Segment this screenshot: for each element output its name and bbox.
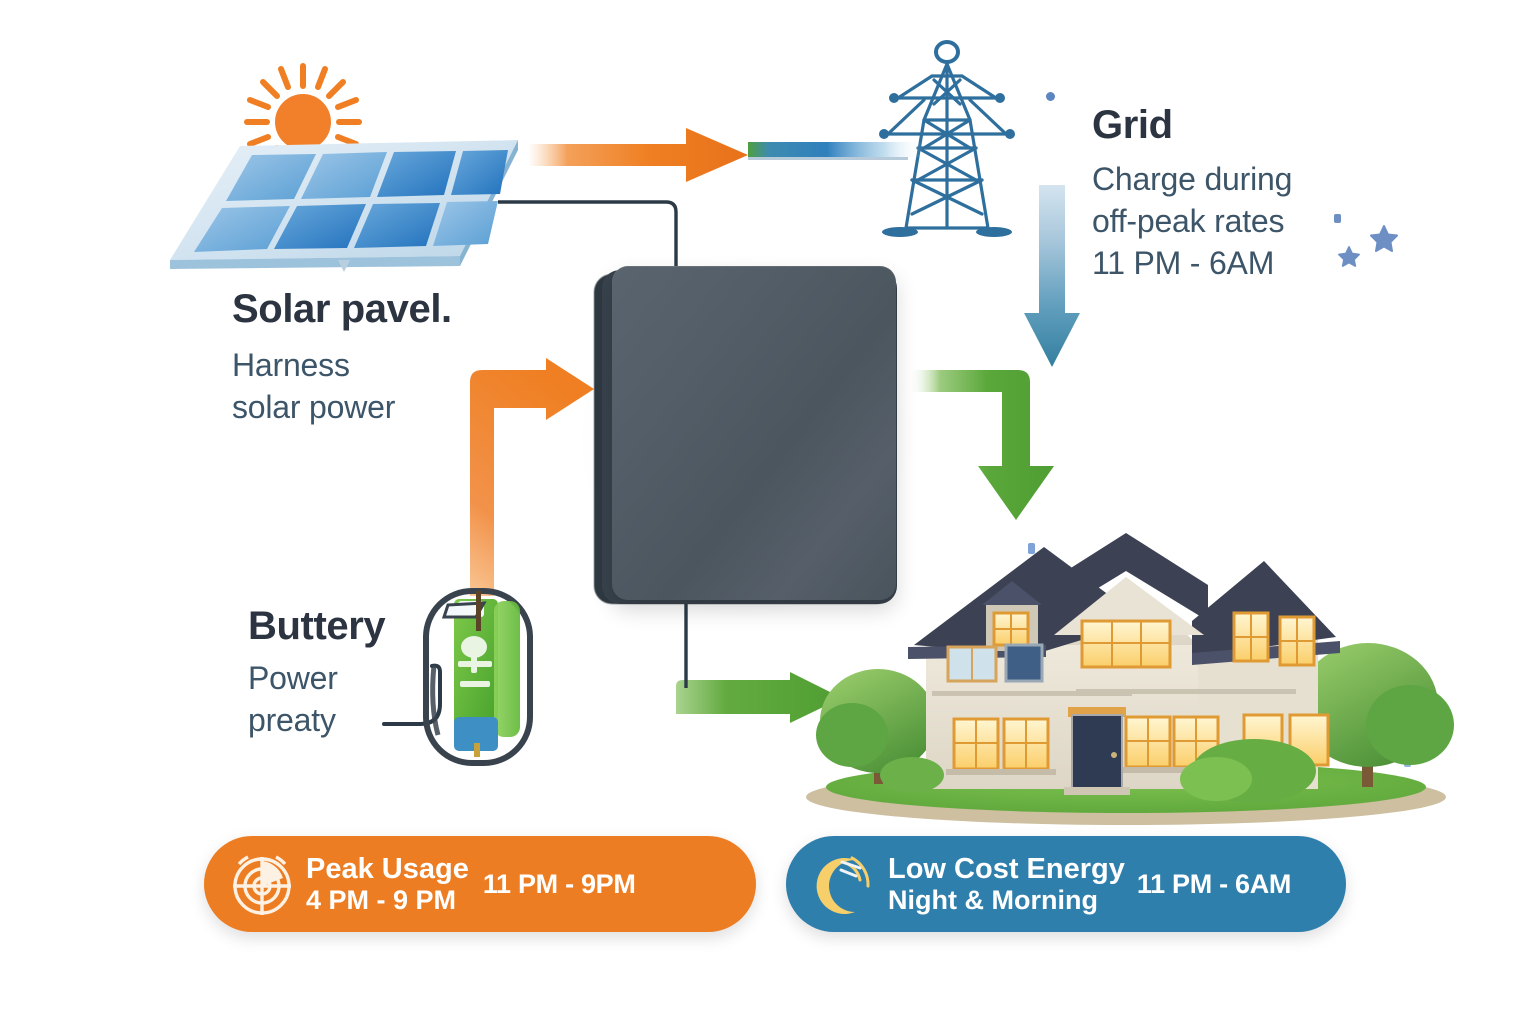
battery-desc-line-1: Power (248, 657, 385, 699)
battery-description: Power preaty (248, 657, 385, 741)
battery-title: Buttery (248, 605, 385, 647)
solar-description: Harness solar power (232, 344, 452, 428)
grid-desc-line-2: off-peak rates (1092, 200, 1292, 242)
legend-pill-peak-usage[interactable]: Peak Usage 4 PM - 9 PM 11 PM - 9PM (204, 836, 756, 932)
solar-panel-icon (168, 138, 518, 273)
battery-desc-line-2: preaty (248, 699, 385, 741)
solar-title: Solar pavel. (232, 288, 452, 330)
solar-desc-line-2: solar power (232, 386, 452, 428)
grid-desc-line-1: Charge during (1092, 158, 1292, 200)
solar-label-block: Solar pavel. Harness solar power (232, 288, 452, 428)
grid-description: Charge during off-peak rates 11 PM - 6AM (1092, 158, 1292, 285)
house-icon (796, 525, 1456, 825)
flow-gradient-bar (748, 140, 923, 164)
peak-usage-time: 11 PM - 9PM (483, 869, 636, 900)
low-cost-title: Low Cost Energy (888, 853, 1125, 885)
legend-pill-low-cost-energy[interactable]: Low Cost Energy Night & Morning 11 PM - … (786, 836, 1346, 932)
grid-label-block: Grid Charge during off-peak rates 11 PM … (1092, 104, 1292, 285)
battery-label-block: Buttery Power preaty (248, 605, 385, 741)
battery-icon (418, 585, 538, 770)
moon-icon (808, 848, 880, 920)
star-icon (1338, 245, 1360, 267)
flow-arrow-grid-to-storage (1022, 185, 1082, 370)
star-icon (1370, 224, 1398, 252)
peak-usage-subtitle: 4 PM - 9 PM (306, 885, 469, 915)
low-cost-time: 11 PM - 6AM (1137, 869, 1291, 900)
gauge-icon (226, 848, 298, 920)
grid-title: Grid (1092, 104, 1292, 146)
sparkle-dot-icon (1334, 214, 1341, 223)
grid-desc-line-3: 11 PM - 6AM (1092, 242, 1292, 284)
low-cost-subtitle: Night & Morning (888, 885, 1125, 915)
solar-desc-line-1: Harness (232, 344, 452, 386)
flow-arrow-solar-to-grid (528, 126, 748, 184)
flow-arrow-storage-to-home-upper (908, 366, 1068, 524)
sparkle-dot-icon (1046, 92, 1055, 101)
peak-usage-title: Peak Usage (306, 853, 469, 885)
infographic-canvas: Solar pavel. Harness solar power (0, 0, 1536, 1024)
